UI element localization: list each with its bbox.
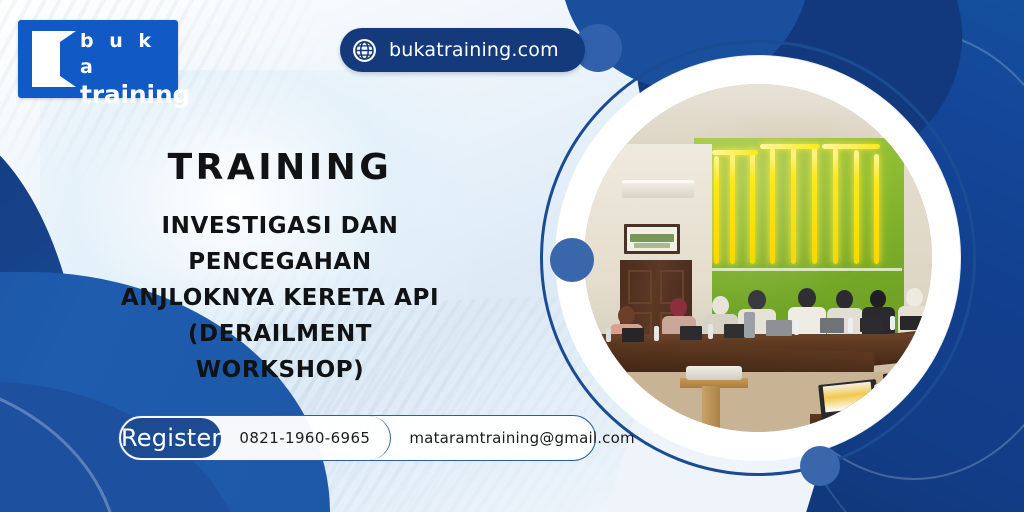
photo-laptop: [680, 326, 702, 340]
title-line: (DERAILMENT: [0, 316, 560, 352]
photo-door-panel: [628, 270, 652, 304]
photo-neon-curve: [822, 144, 880, 149]
photo-wall-railing: [696, 268, 902, 271]
photo-neon-strip: [874, 154, 879, 264]
register-bar: Register 0821-1960-6965 mataramtraining@…: [118, 415, 596, 461]
photo-water-bottle: [874, 384, 881, 404]
photo-sign-text-line1: [630, 234, 674, 242]
photo-water-bottle: [924, 378, 931, 398]
training-photo: [584, 84, 932, 432]
photo-water-bottle: [708, 324, 713, 339]
contact-email[interactable]: mataramtraining@gmail.com: [391, 429, 652, 447]
photo-water-bottle: [794, 320, 799, 335]
photo-neon-curve: [712, 150, 758, 155]
photo-neon-strip: [750, 150, 755, 264]
photo-laptop: [766, 320, 792, 336]
title-line: WORKSHOP): [0, 352, 560, 388]
photo-laptop: [820, 318, 844, 333]
photo-podium-column: [702, 386, 720, 432]
photo-water-bottle: [848, 318, 853, 333]
photo-neon-curve: [760, 144, 820, 149]
photo-cable: [874, 410, 894, 417]
photo-water-dispenser: [744, 312, 755, 338]
website-url-text: bukatraining.com: [389, 39, 559, 61]
photo-neon-strip: [854, 150, 859, 264]
photo-neon-strip: [714, 156, 719, 264]
photo-water-bottle: [654, 326, 659, 341]
photo-sign-text-line2: [634, 243, 670, 248]
page-title: INVESTIGASI DAN PENCEGAHAN ANJLOKNYA KER…: [0, 208, 560, 388]
website-badge[interactable]: bukatraining.com: [340, 28, 585, 72]
decor-dot-bottom: [800, 446, 840, 486]
logo-text-training: training: [80, 81, 174, 109]
photo-water-bottle: [890, 316, 895, 330]
globe-icon: [352, 38, 377, 63]
title-line: ANJLOKNYA KERETA API: [0, 280, 560, 316]
poster-canvas: b u k a training bukatraining.com TRAINI…: [0, 0, 1024, 512]
photo-neon-strip: [770, 148, 775, 264]
logo-text-buka: b u k a: [80, 28, 174, 80]
photo-laptop: [622, 328, 644, 342]
buka-training-logo[interactable]: b u k a training: [18, 20, 178, 98]
photo-laptop: [900, 316, 924, 330]
title-line: PENCEGAHAN: [0, 244, 560, 280]
photo-air-conditioner: [622, 180, 694, 198]
photo-laptop: [860, 318, 882, 332]
contact-phone[interactable]: 0821-1960-6965: [221, 416, 391, 460]
photo-projector: [686, 366, 742, 380]
logo-wordmark: b u k a training: [80, 28, 174, 109]
photo-neon-strip: [730, 152, 735, 264]
photo-neon-strip: [812, 147, 817, 264]
photo-neon-strip: [791, 147, 796, 264]
page-eyebrow-title: TRAINING: [0, 147, 560, 188]
title-line: INVESTIGASI DAN: [0, 208, 560, 244]
photo-neon-strip: [833, 148, 838, 264]
open-book-door-icon: [30, 29, 84, 89]
photo-front-laptop-screen: [823, 382, 873, 413]
photo-water-bottle: [606, 328, 611, 342]
register-button[interactable]: Register: [121, 418, 221, 458]
photo-laptop: [724, 324, 746, 338]
